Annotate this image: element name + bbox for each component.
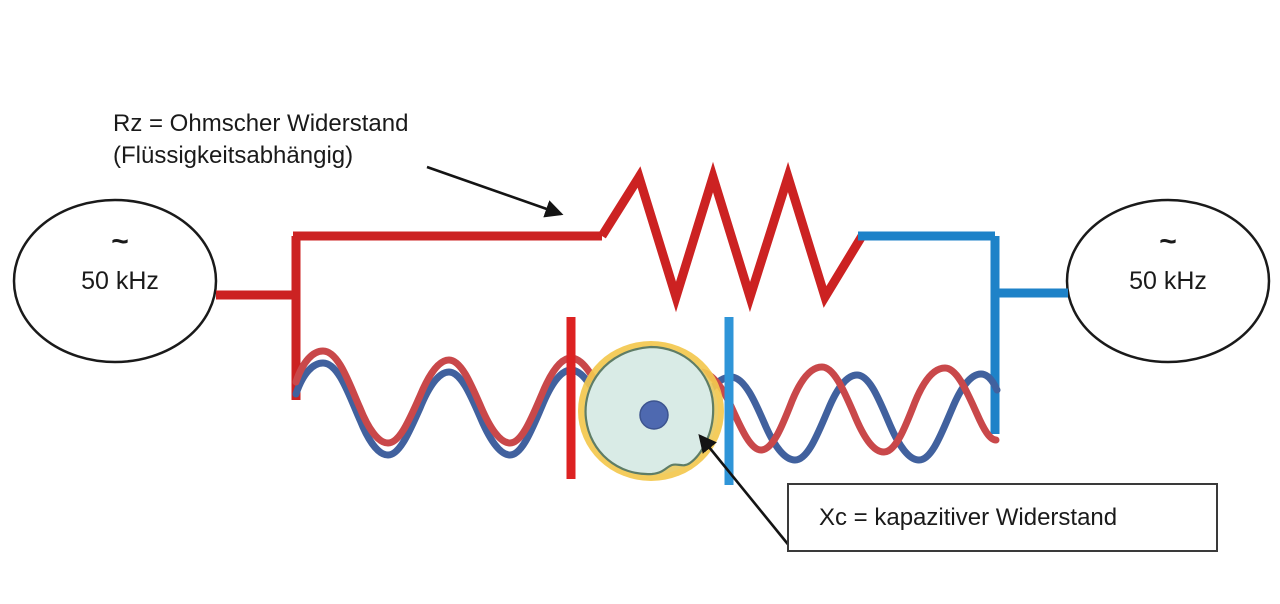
rz-label-line1: Rz = Ohmscher Widerstand (113, 108, 408, 140)
rz-annotation-label: Rz = Ohmscher Widerstand (Flüssigkeitsab… (113, 108, 408, 172)
resistor-zigzag (602, 177, 862, 297)
rz-annotation-arrow (427, 167, 561, 214)
ac-frequency-left: 50 kHz (20, 264, 220, 298)
ac-source-right-label: ~ 50 kHz (1068, 232, 1268, 298)
diagram-canvas: Rz = Ohmscher Widerstand (Flüssigkeitsab… (0, 0, 1280, 604)
wave-blue-right (700, 374, 997, 460)
ac-source-left-label: ~ 50 kHz (20, 232, 220, 298)
wave-red-left (296, 351, 603, 443)
ac-symbol-right: ~ (1068, 232, 1268, 252)
cell-capacitor (578, 341, 724, 481)
rz-label-line2: (Flüssigkeitsabhängig) (113, 140, 408, 172)
ac-frequency-right: 50 kHz (1068, 264, 1268, 298)
xc-label-text: Xc = kapazitiver Widerstand (819, 504, 1117, 532)
xc-annotation-box: Xc = kapazitiver Widerstand (787, 483, 1218, 552)
wave-blue-left (296, 363, 603, 455)
ac-symbol-left: ~ (20, 232, 220, 252)
cell-nucleus (640, 401, 668, 429)
